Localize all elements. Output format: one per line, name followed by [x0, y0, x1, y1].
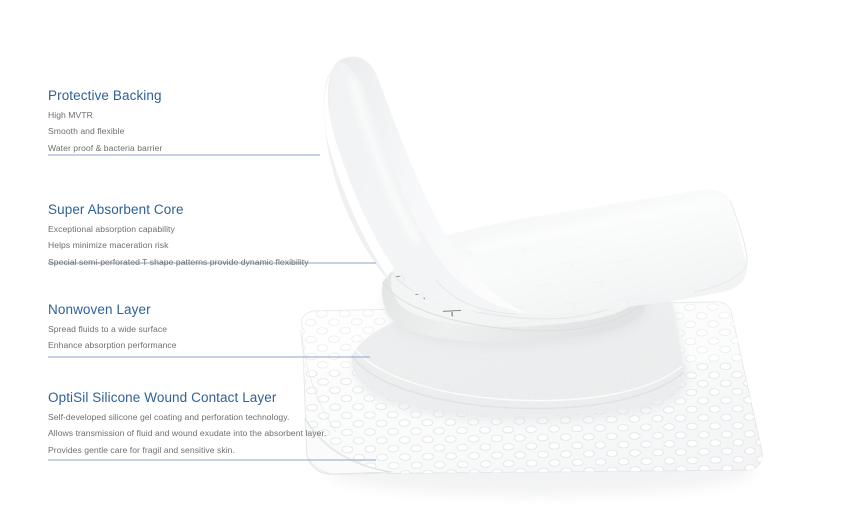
layer-feature: Helps minimize maceration risk [48, 240, 309, 251]
layer-feature: Provides gentle care for fragil and sens… [48, 445, 326, 456]
layer-feature: Exceptional absorption capability [48, 224, 309, 235]
layer-heading: Protective Backing [48, 88, 162, 103]
layer-feature: High MVTR [48, 110, 162, 121]
layer-diagram: Protective Backing High MVTR Smooth and … [0, 0, 848, 521]
layer-feature: Spread fluids to a wide surface [48, 324, 177, 335]
layer-label-nonwoven-layer: Nonwoven Layer Spread fluids to a wide s… [48, 302, 177, 357]
layer-feature: Water proof & bacteria barrier [48, 143, 162, 154]
layer-feature: Smooth and flexible [48, 126, 162, 137]
layer-feature: Allows transmission of fluid and wound e… [48, 428, 326, 439]
layer-label-super-absorbent-core: Super Absorbent Core Exceptional absorpt… [48, 202, 309, 273]
layer-heading: Super Absorbent Core [48, 202, 309, 217]
layer-feature: Enhance absorption performance [48, 340, 177, 351]
layer-label-protective-backing: Protective Backing High MVTR Smooth and … [48, 88, 162, 159]
layer-label-optisil-silicone-wound-contact-layer: OptiSil Silicone Wound Contact Layer Sel… [48, 390, 326, 461]
layer-heading: Nonwoven Layer [48, 302, 177, 317]
layer-feature: Self-developed silicone gel coating and … [48, 412, 326, 423]
layer-heading: OptiSil Silicone Wound Contact Layer [48, 390, 326, 405]
layer-feature: Special semi-perforated T shape patterns… [48, 257, 309, 268]
